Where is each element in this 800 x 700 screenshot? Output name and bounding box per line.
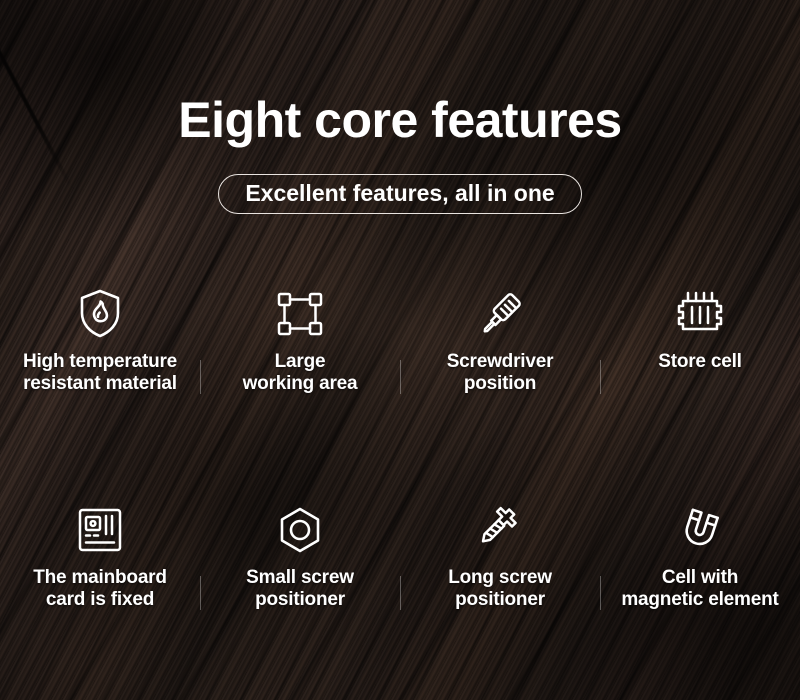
subtitle-pill: Excellent features, all in one bbox=[218, 174, 581, 214]
horseshoe-magnet-icon bbox=[677, 501, 723, 559]
feature-item-magnetic-cell: Cell with magnetic element bbox=[600, 501, 800, 612]
page-title: Eight core features bbox=[0, 95, 800, 145]
feature-item-large-working-area: Large working area bbox=[200, 285, 400, 396]
feature-item-store-cell: Store cell bbox=[600, 285, 800, 396]
hex-nut-icon bbox=[277, 501, 323, 559]
feature-item-long-screw-positioner: Long screw positioner bbox=[400, 501, 600, 612]
screwdriver-icon bbox=[476, 285, 524, 343]
feature-label: Small screw positioner bbox=[246, 567, 354, 612]
feature-label: Cell with magnetic element bbox=[621, 567, 778, 612]
feature-label: Long screw positioner bbox=[448, 567, 552, 612]
feature-row-2: The mainboard card is fixed Small screw … bbox=[0, 501, 800, 612]
feature-grid: High temperature resistant material bbox=[0, 285, 800, 612]
feature-item-small-screw-positioner: Small screw positioner bbox=[200, 501, 400, 612]
feature-label: The mainboard card is fixed bbox=[33, 567, 167, 612]
feature-item-high-temperature: High temperature resistant material bbox=[0, 285, 200, 396]
subtitle-container: Excellent features, all in one bbox=[0, 174, 800, 214]
feature-label: Large working area bbox=[243, 351, 358, 396]
feature-row-1: High temperature resistant material bbox=[0, 285, 800, 396]
feature-label: High temperature resistant material bbox=[23, 351, 177, 396]
shield-flame-icon bbox=[78, 285, 122, 343]
content-layer: Eight core features Excellent features, … bbox=[0, 0, 800, 700]
screw-bolt-icon bbox=[476, 501, 524, 559]
feature-label: Screwdriver position bbox=[447, 351, 554, 396]
ic-chip-icon bbox=[675, 285, 725, 343]
feature-item-mainboard-fixed: The mainboard card is fixed bbox=[0, 501, 200, 612]
feature-highlight-page: Eight core features Excellent features, … bbox=[0, 0, 800, 700]
corner-handles-area-icon bbox=[276, 285, 324, 343]
feature-label: Store cell bbox=[658, 351, 742, 373]
mainboard-card-icon bbox=[77, 501, 123, 559]
feature-item-screwdriver-position: Screwdriver position bbox=[400, 285, 600, 396]
